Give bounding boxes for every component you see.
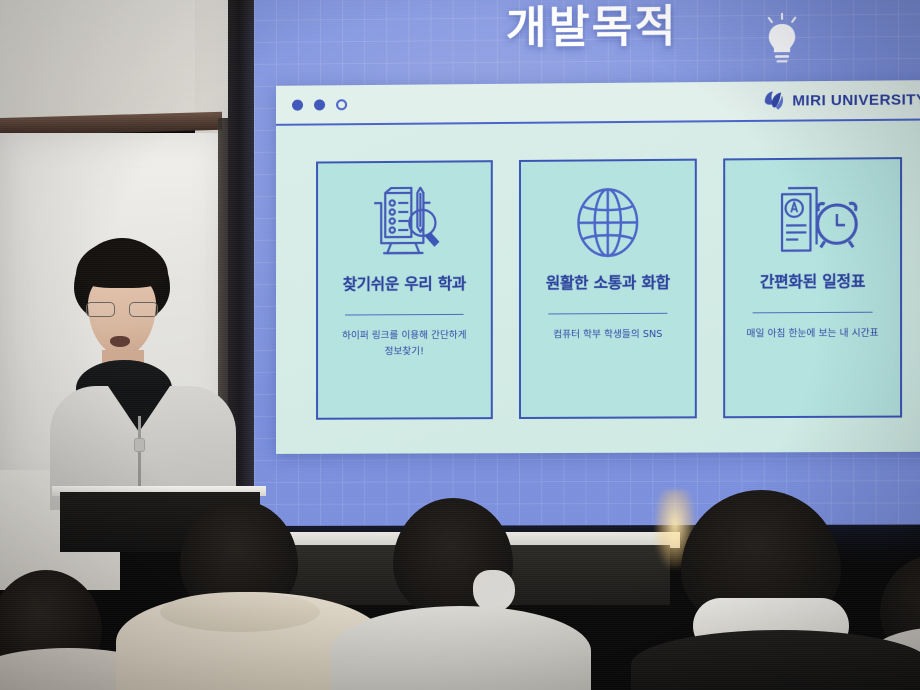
audience-member-right-scarf — [645, 490, 915, 690]
window-controls[interactable] — [292, 99, 347, 110]
audience-hood-collar — [160, 592, 320, 632]
screenshot-stage: 개발목적 — [0, 0, 920, 690]
documents-alarm-clock-icon — [766, 178, 860, 265]
audience-member-center — [355, 498, 585, 690]
miri-logo-icon — [763, 90, 785, 110]
lightbulb-icon — [763, 13, 802, 66]
monitor-checklist-magnifier-icon — [361, 181, 447, 268]
brand-logo: MIRI UNIVERSITY — [763, 89, 920, 111]
feature-card-department[interactable]: 찾기쉬운 우리 학과 하이퍼 링크를 이용해 간단하게정보찾기! — [316, 160, 493, 420]
feature-card-communication[interactable]: 원활한 소통과 화합 컴퓨터 학부 학생들의 SNS — [519, 159, 697, 419]
audience-body — [631, 630, 920, 690]
window-dot-2-icon[interactable] — [314, 99, 325, 110]
card-title: 원활한 소통과 화합 — [546, 274, 670, 293]
presenter-glasses-icon — [86, 302, 158, 317]
window-dot-1-icon[interactable] — [292, 99, 303, 110]
card-description: 컴퓨터 학부 학생들의 SNS — [549, 327, 666, 343]
presenter-hair-front — [76, 240, 168, 288]
brand-name: MIRI UNIVERSITY — [792, 91, 920, 109]
card-divider — [345, 313, 464, 315]
card-divider — [548, 312, 667, 314]
browser-content: 찾기쉬운 우리 학과 하이퍼 링크를 이용해 간단하게정보찾기! — [276, 120, 920, 454]
browser-title-bar: MIRI UNIVERSITY — [276, 80, 920, 126]
projected-slide: 개발목적 — [254, 0, 920, 526]
card-title: 간편화된 일정표 — [760, 272, 865, 291]
presenter-standing — [52, 238, 228, 506]
browser-window: MIRI UNIVERSITY — [276, 80, 920, 454]
card-description: 매일 아침 한눈에 보는 내 시간표 — [742, 326, 882, 342]
presenter-mouth — [110, 336, 130, 347]
card-description: 하이퍼 링크를 이용해 간단하게정보찾기! — [338, 328, 470, 360]
slide-title: 개발목적 — [254, 0, 920, 58]
feature-card-schedule[interactable]: 간편화된 일정표 매일 아침 한눈에 보는 내 시간표 — [723, 157, 902, 418]
card-divider — [753, 311, 873, 313]
globe-icon — [569, 179, 646, 266]
window-dot-3-icon[interactable] — [336, 99, 347, 110]
audience-body — [331, 606, 591, 690]
card-title: 찾기쉬운 우리 학과 — [343, 275, 466, 294]
presenter-zipper-pull — [134, 438, 145, 452]
